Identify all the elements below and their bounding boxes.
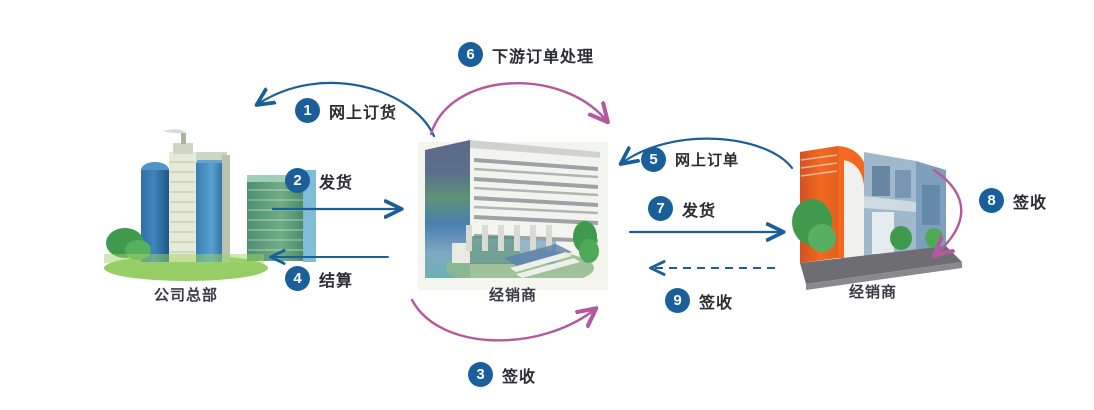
step-label-3[interactable]: 3 签收 (468, 362, 536, 387)
diagram-canvas: 公司总部 经销商 经销商 1 网上订货 2 发货 3 签收 4 结算 5 网上订… (0, 0, 1094, 410)
step-text-8: 签收 (1013, 189, 1047, 213)
step-label-9[interactable]: 9 签收 (665, 288, 733, 313)
step-text-7: 发货 (682, 197, 716, 221)
step-label-5[interactable]: 5 网上订单 (641, 147, 739, 172)
step-label-6[interactable]: 6 下游订单处理 (458, 42, 594, 67)
step-text-9: 签收 (699, 289, 733, 313)
step-badge-3: 3 (468, 362, 493, 387)
step-badge-2: 2 (285, 168, 310, 193)
step-badge-7: 7 (648, 196, 673, 221)
step-text-3: 签收 (502, 363, 536, 387)
step-badge-4: 4 (285, 266, 310, 291)
distributor-center-illustration (418, 140, 608, 290)
step-text-1: 网上订货 (329, 99, 397, 123)
step-label-8[interactable]: 8 签收 (979, 188, 1047, 213)
node-distributor-center-caption: 经销商 (433, 284, 593, 305)
node-distributor-center: 经销商 (433, 280, 593, 305)
node-headquarters-caption: 公司总部 (106, 284, 266, 305)
step-label-4[interactable]: 4 结算 (285, 266, 353, 291)
distributor-store-illustration (792, 146, 962, 290)
step-badge-9: 9 (665, 288, 690, 313)
step-text-4: 结算 (319, 267, 353, 291)
step-badge-1: 1 (295, 98, 320, 123)
step-text-5: 网上订单 (675, 149, 739, 170)
step-badge-8: 8 (979, 188, 1004, 213)
node-distributor-store: 经销商 (793, 277, 953, 302)
arrow-step-3 (412, 300, 594, 340)
step-label-2[interactable]: 2 发货 (285, 168, 353, 193)
step-label-1[interactable]: 1 网上订货 (295, 98, 397, 123)
arrow-step-6 (431, 83, 606, 134)
step-label-7[interactable]: 7 发货 (648, 196, 716, 221)
step-text-2: 发货 (319, 169, 353, 193)
node-distributor-store-caption: 经销商 (793, 281, 953, 302)
step-badge-5: 5 (641, 147, 666, 172)
step-text-6: 下游订单处理 (492, 43, 594, 67)
step-badge-6: 6 (458, 42, 483, 67)
node-headquarters: 公司总部 (106, 280, 266, 305)
headquarters-illustration (104, 129, 316, 281)
